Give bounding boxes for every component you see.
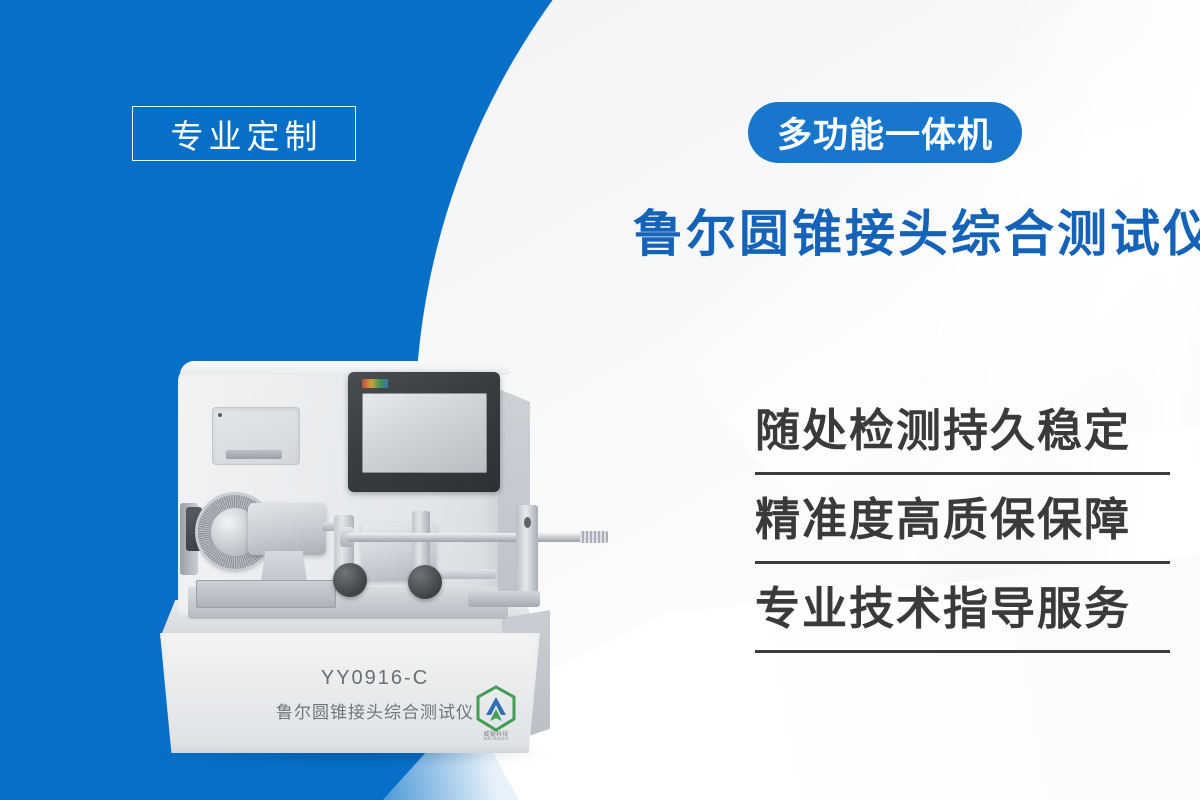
custom-service-badge: 专业定制: [132, 106, 356, 161]
hmi-display-screen[interactable]: [362, 393, 487, 473]
feature-item: 随处检测持久稳定: [755, 404, 1173, 475]
feature-item: 专业技术指导服务: [755, 582, 1173, 653]
test-rod-threaded-tip: [580, 531, 608, 543]
brand-hexagon-logo: [475, 685, 517, 733]
adjustment-knob-right[interactable]: [408, 565, 442, 599]
product-machine-image: YY0916-C 鲁尔圆锥接头综合测试仪 威锯科技 WEIJUKEJI: [150, 355, 670, 770]
brand-url-label: WEIJUKEJI: [468, 736, 524, 741]
feature-pill-badge: 多功能一体机: [748, 102, 1022, 163]
feature-item: 精准度高质保保障: [755, 493, 1173, 564]
l-bracket-hole: [524, 517, 531, 528]
page-title: 鲁尔圆锥接头综合测试仪: [633, 194, 1200, 266]
test-rod-shaft: [346, 533, 596, 542]
machine-name-label: 鲁尔圆锥接头综合测试仪: [250, 698, 500, 723]
printer-paper-slot: [226, 450, 282, 459]
feature-label: 精准度高质保保障: [755, 493, 1173, 547]
feature-divider: [755, 650, 1170, 653]
custom-service-badge-label: 专业定制: [166, 110, 323, 158]
motor-housing-block: [248, 503, 326, 555]
test-platform-inset: [196, 580, 336, 608]
feature-divider: [755, 561, 1170, 564]
feature-pill-label: 多功能一体机: [777, 107, 993, 158]
adjustment-knob-left[interactable]: [333, 563, 367, 597]
printer-indicator-dot: [218, 413, 222, 417]
product-banner: 专业定制 多功能一体机 鲁尔圆锥接头综合测试仪 随处检测持久稳定 精准度高质保保…: [0, 0, 1200, 800]
feature-label: 随处检测持久稳定: [755, 404, 1173, 458]
feature-divider: [755, 472, 1170, 475]
machine-model-label: YY0916-C: [260, 667, 490, 690]
feature-label: 专业技术指导服务: [755, 582, 1173, 636]
feature-list: 随处检测持久稳定 精准度高质保保障 专业技术指导服务: [755, 404, 1173, 671]
l-bracket-horizontal: [468, 591, 540, 607]
hmi-brand-logo: [362, 379, 388, 388]
